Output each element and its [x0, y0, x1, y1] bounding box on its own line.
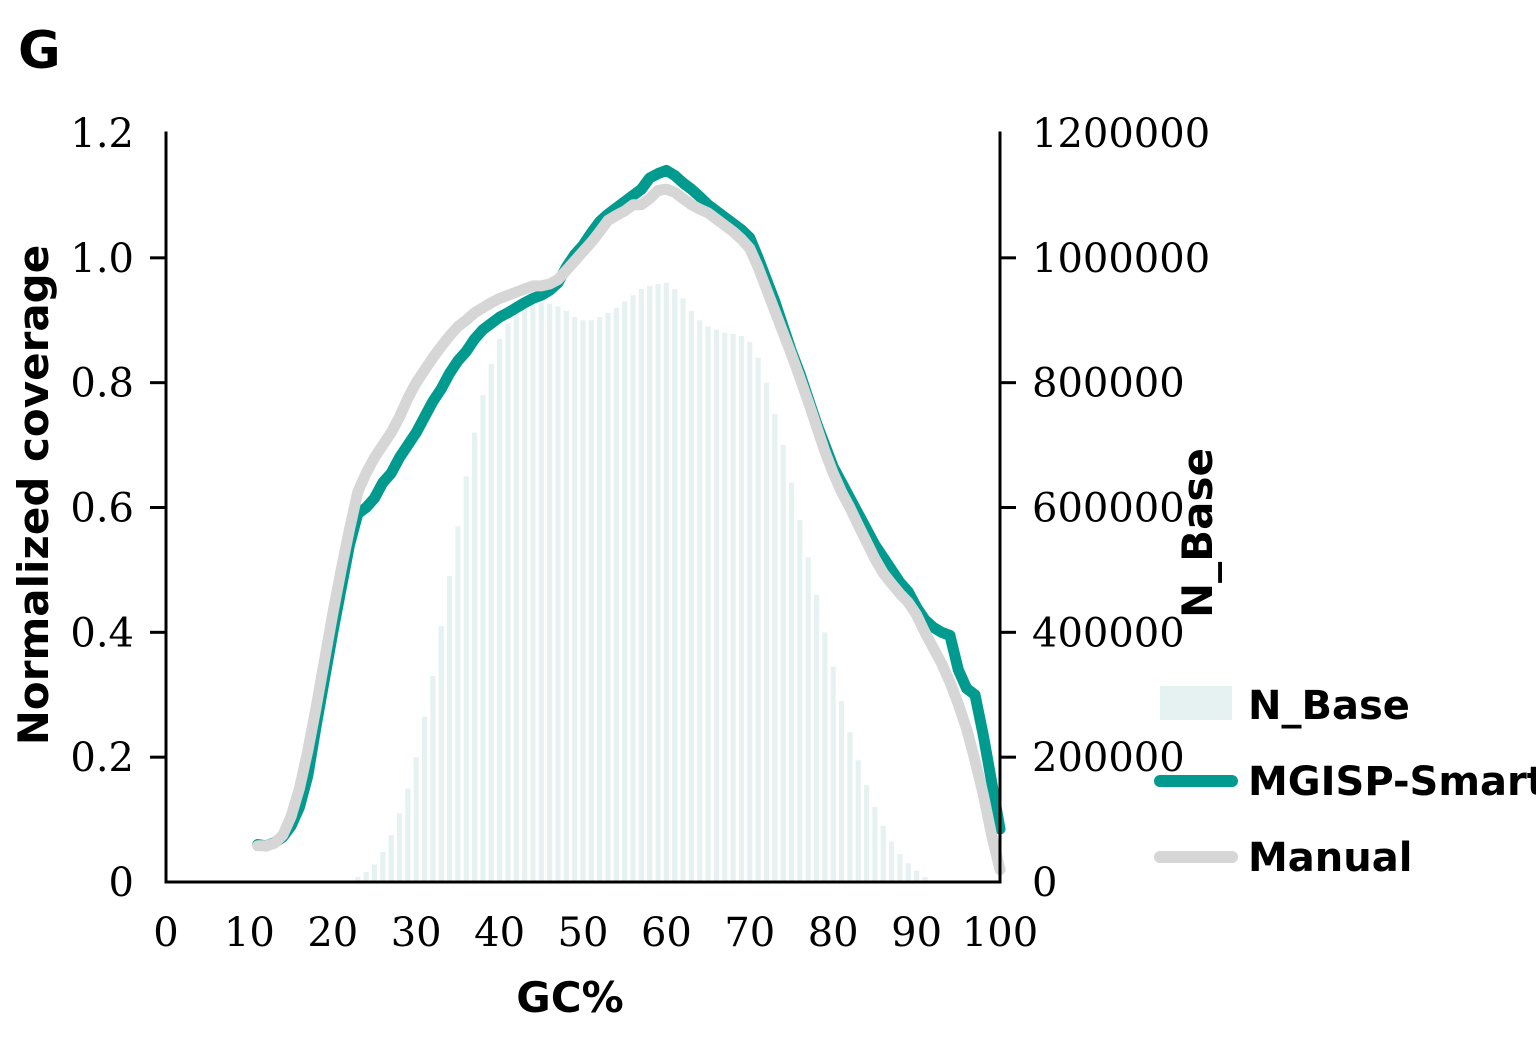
histogram-bar: [464, 476, 469, 882]
histogram-bar: [655, 284, 660, 882]
histogram-bar: [539, 303, 544, 882]
histogram-bar: [414, 757, 419, 882]
right-tick-label: 1200000: [1032, 111, 1210, 157]
histogram-bar: [697, 320, 702, 882]
x-tick-label: 0: [153, 910, 178, 956]
histogram-bar: [864, 785, 869, 882]
histogram-bar: [856, 760, 861, 882]
histogram-bar: [397, 813, 402, 882]
histogram-bar: [530, 305, 535, 882]
histogram-bar: [831, 667, 836, 882]
histogram-bar: [564, 311, 569, 882]
histogram-bar: [614, 308, 619, 882]
histogram-bar: [380, 852, 385, 882]
legend-swatch-icon: [1160, 686, 1232, 720]
legend-item-label: Manual: [1248, 835, 1412, 881]
histogram-bar: [505, 323, 510, 882]
histogram-bar: [672, 289, 677, 882]
histogram-bar: [764, 383, 769, 882]
histogram-bar: [889, 841, 894, 882]
histogram-bar: [714, 330, 719, 882]
histogram-bar: [647, 286, 652, 882]
x-tick-label: 60: [641, 910, 692, 956]
right-tick-label: 200000: [1032, 735, 1185, 781]
left-tick-label: 0: [109, 860, 134, 906]
histogram-bar: [589, 320, 594, 882]
left-tick-label: 0.6: [70, 486, 134, 532]
right-tick-label: 600000: [1032, 486, 1185, 532]
histogram-bar: [664, 283, 669, 882]
histogram-bar: [389, 835, 394, 882]
histogram-bar: [881, 826, 886, 882]
histogram-bar: [555, 307, 560, 882]
histogram-bar: [447, 576, 452, 882]
gc-coverage-chart: G 00.20.40.60.81.01.2 020000040000060000…: [0, 0, 1536, 1064]
histogram-bar: [806, 557, 811, 882]
x-tick-label: 70: [724, 910, 775, 956]
left-tick-label: 0.8: [70, 361, 134, 407]
right-tick-label: 800000: [1032, 361, 1185, 407]
histogram-bar: [497, 339, 502, 882]
histogram-bar: [472, 433, 477, 882]
right-tick-label: 1000000: [1032, 236, 1210, 282]
x-tick-label: 10: [224, 910, 275, 956]
histogram-bar: [772, 414, 777, 882]
histogram-bar: [839, 701, 844, 882]
histogram-bar: [680, 298, 685, 882]
legend-item-label: MGISP-Smart 8: [1248, 759, 1536, 805]
legend-item-label: N_Base: [1248, 683, 1410, 729]
histogram-bar: [706, 326, 711, 882]
histogram-bar: [522, 308, 527, 882]
histogram-bar: [797, 520, 802, 882]
histogram-bar: [372, 865, 377, 882]
histogram-bar: [781, 445, 786, 882]
histogram-bar: [430, 676, 435, 882]
histogram-bar: [547, 304, 552, 882]
histogram-bar: [822, 632, 827, 882]
histogram-bar: [605, 313, 610, 882]
left-tick-label: 1.2: [70, 111, 134, 157]
histogram-bar: [872, 807, 877, 882]
histogram-bar: [630, 295, 635, 882]
left-tick-label: 0.4: [70, 610, 134, 656]
histogram-bar: [722, 333, 727, 882]
histogram-bar: [689, 311, 694, 882]
histogram-bar: [731, 334, 736, 882]
left-tick-label: 0.2: [70, 735, 134, 781]
histogram-bar: [480, 395, 485, 882]
x-tick-label: 80: [808, 910, 859, 956]
histogram-bar: [597, 317, 602, 882]
panel-label: G: [18, 21, 61, 81]
histogram-bar: [455, 526, 460, 882]
histogram-bar: [572, 317, 577, 882]
histogram-bar: [789, 483, 794, 882]
x-tick-label: 90: [891, 910, 942, 956]
x-tick-label: 50: [558, 910, 609, 956]
y-axis-title: Normalized coverage: [9, 245, 58, 745]
x-tick-label: 40: [474, 910, 525, 956]
histogram-bar: [622, 302, 627, 882]
histogram-bar: [814, 595, 819, 882]
x-axis-title: GC%: [516, 973, 623, 1022]
x-tick-label: 30: [391, 910, 442, 956]
histogram-bar: [847, 732, 852, 882]
histogram-bar: [514, 314, 519, 882]
histogram-bar: [639, 289, 644, 882]
histogram-bar: [747, 342, 752, 882]
histogram-bar: [914, 871, 919, 882]
histogram-bar: [422, 717, 427, 882]
right-tick-label: 0: [1032, 860, 1057, 906]
histogram-bar: [580, 320, 585, 882]
left-tick-label: 1.0: [70, 236, 134, 282]
histogram-bar: [906, 863, 911, 882]
x-tick-label: 20: [307, 910, 358, 956]
histogram-bar: [756, 358, 761, 882]
histogram-bar: [489, 364, 494, 882]
histogram-bar: [439, 626, 444, 882]
x-tick-label: 100: [962, 910, 1038, 956]
histogram-bar: [405, 788, 410, 882]
histogram-bar: [897, 854, 902, 882]
secondary-y-axis-title: N_Base: [1173, 448, 1222, 618]
histogram-bar: [739, 336, 744, 882]
right-tick-label: 400000: [1032, 610, 1185, 656]
